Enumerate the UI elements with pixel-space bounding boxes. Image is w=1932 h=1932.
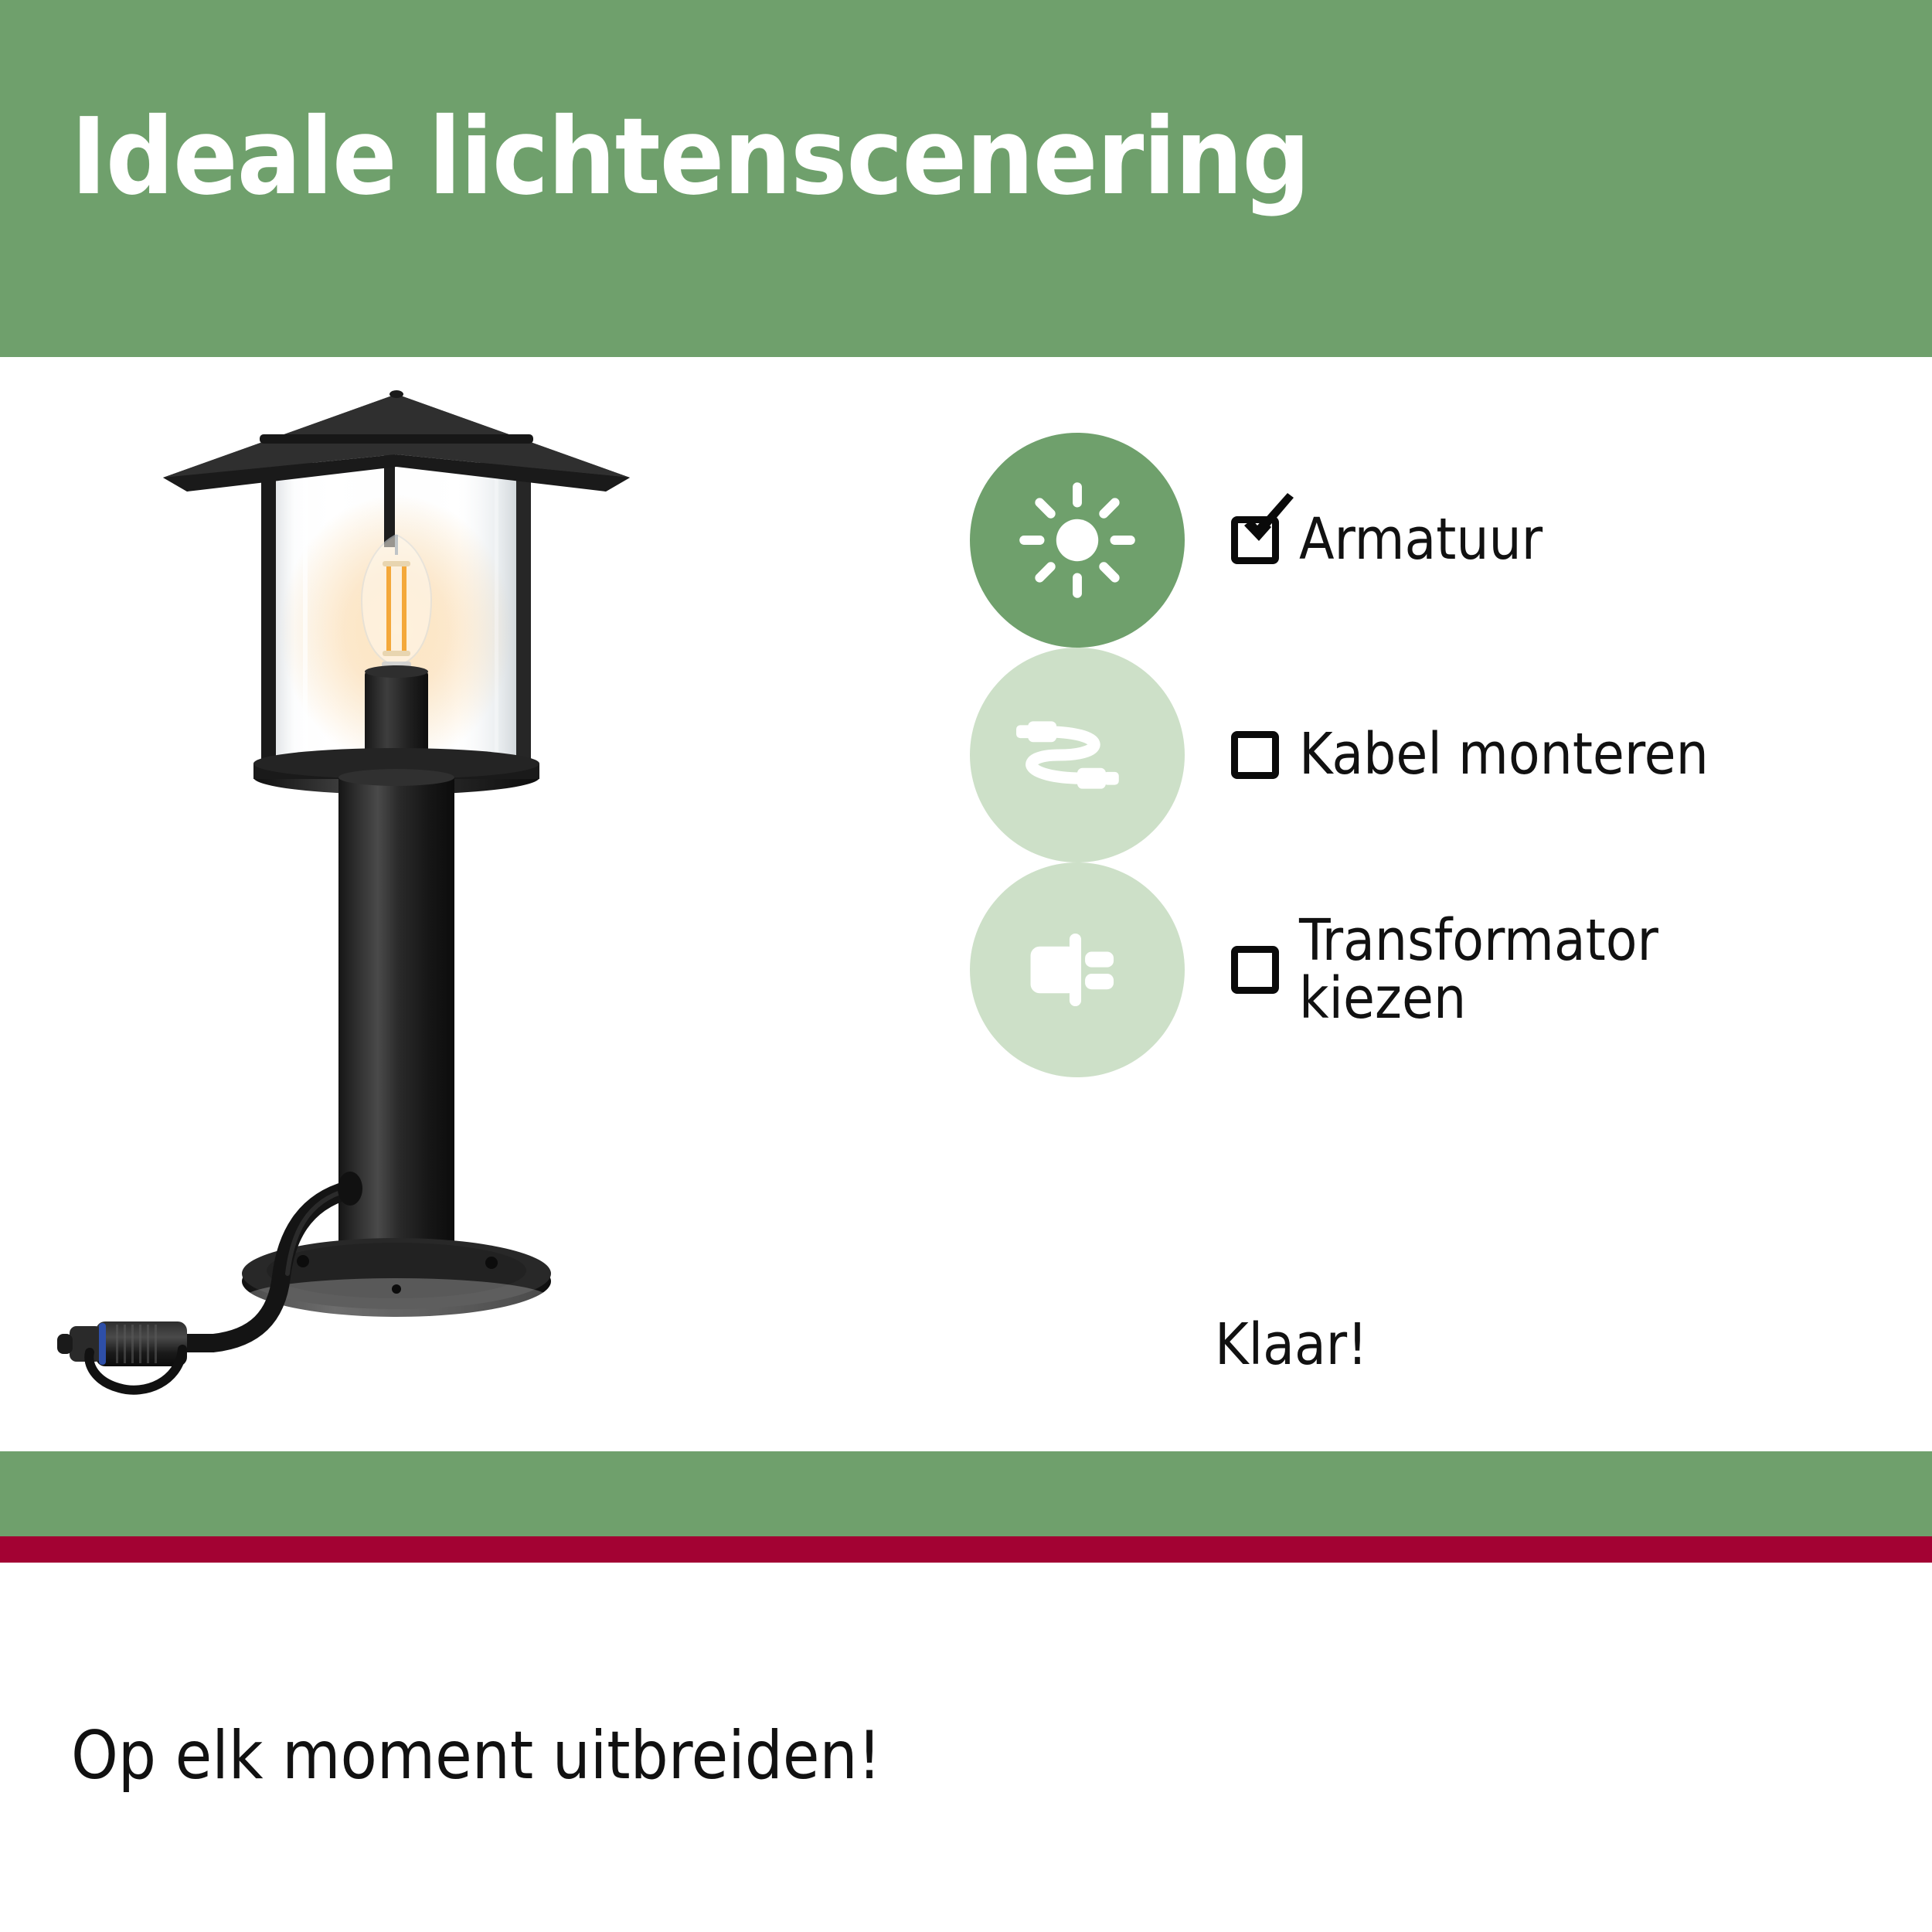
footer-crimson-band xyxy=(0,1536,1932,1563)
product-image xyxy=(31,363,904,1445)
footer-tagline: Op elk moment uitbreiden! xyxy=(71,1717,882,1794)
plug-icon-circle xyxy=(970,862,1185,1077)
cable-icon-circle xyxy=(970,648,1185,862)
installation-checklist: Armatuur Kabel monteren xyxy=(970,433,1905,1077)
page-title: Ideale lichtenscenering xyxy=(71,104,1310,210)
check-icon xyxy=(1236,493,1300,556)
checkbox-armatuur[interactable] xyxy=(1231,516,1279,564)
cable-icon xyxy=(1012,690,1142,820)
checkbox-transformator-kiezen[interactable] xyxy=(1231,946,1279,994)
footer-green-band xyxy=(0,1451,1932,1536)
checklist-done-label: Klaar! xyxy=(1215,1311,1368,1378)
sun-icon xyxy=(1012,474,1143,606)
plug-icon xyxy=(1012,905,1142,1035)
checklist-label-transformator-kiezen: Transformator kiezen xyxy=(1299,912,1658,1029)
checklist-item-kabel-monteren[interactable]: Kabel monteren xyxy=(970,648,1905,862)
checklist-label-kabel-monteren: Kabel monteren xyxy=(1299,726,1709,784)
checklist-label-armatuur: Armatuur xyxy=(1299,511,1543,569)
checklist-item-transformator-kiezen[interactable]: Transformator kiezen xyxy=(970,862,1905,1077)
checkbox-box xyxy=(1231,946,1279,994)
checklist-item-armatuur[interactable]: Armatuur xyxy=(970,433,1905,648)
sun-icon-circle xyxy=(970,433,1185,648)
checkbox-box xyxy=(1231,731,1279,779)
checkbox-kabel-monteren[interactable] xyxy=(1231,731,1279,779)
